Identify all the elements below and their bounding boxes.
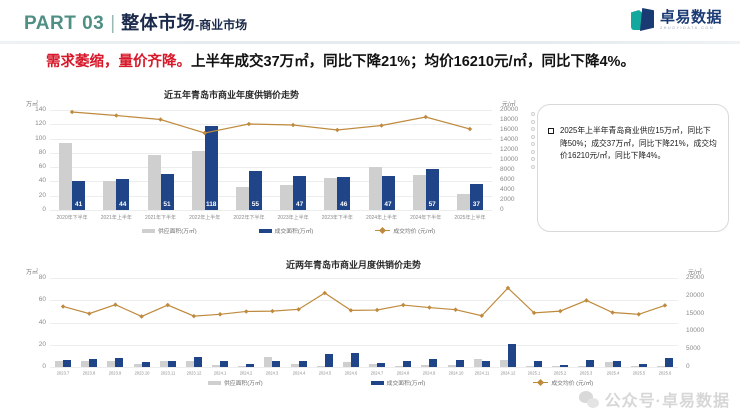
title-separator: | xyxy=(110,13,115,35)
legend-item-supply[interactable]: 供应面积(万㎡) xyxy=(208,378,263,387)
header-divider xyxy=(0,41,740,44)
legend-line-marker xyxy=(533,382,548,384)
logo-name-en: ZHUOYIDATA.COM xyxy=(660,27,722,31)
logo-text: 卓易数据 ZHUOYIDATA.COM xyxy=(660,10,722,31)
legend-label: 成交均价 (元/㎡) xyxy=(393,226,435,235)
legend-item-deal[interactable]: 成交面积(万㎡) xyxy=(371,378,426,387)
y-tick-right: 10000 xyxy=(686,327,716,334)
chart-title: 近五年青岛市商业年度供销价走势 xyxy=(164,88,299,101)
y-tick-left: 20 xyxy=(20,341,46,348)
price-line-series xyxy=(50,110,492,210)
price-line-series xyxy=(50,278,678,367)
page-title: PART 03 | 整体市场 -商业市场 xyxy=(24,9,247,35)
plot-area xyxy=(50,278,678,367)
legend-label: 供应面积(万㎡) xyxy=(158,226,197,235)
callout-dots-decoration xyxy=(531,112,535,169)
legend-color-swatch xyxy=(208,381,221,385)
y-tick-right: 14000 xyxy=(500,136,530,143)
callout-text: 2025年上半年青岛商业供应15万㎡，同比下降50%；成交37万㎡，同比下降21… xyxy=(560,125,718,163)
brand-logo: 卓易数据 ZHUOYIDATA.COM xyxy=(631,8,722,32)
legend-item-supply[interactable]: 供应面积(万㎡) xyxy=(142,226,197,235)
y-tick-left: 60 xyxy=(20,163,46,170)
legend-color-swatch xyxy=(259,229,272,233)
y-tick-right: 0 xyxy=(500,206,530,213)
watermark: 公众号·卓易数据 xyxy=(579,387,730,411)
y-tick-right: 20000 xyxy=(686,292,716,299)
legend-label: 成交面积(万㎡) xyxy=(387,378,426,387)
gridline xyxy=(50,210,492,211)
y-tick-right: 25000 xyxy=(686,274,716,281)
part-label: PART 03 xyxy=(24,13,104,35)
y-tick-right: 0 xyxy=(686,363,716,370)
chart-legend: 供应面积(万㎡)成交面积(万㎡)成交均价 (元/㎡) xyxy=(208,378,593,387)
x-axis-label: 2025年上半年 xyxy=(440,214,500,221)
legend-label: 成交均价 (元/㎡) xyxy=(551,378,593,387)
legend-item-deal[interactable]: 成交面积(万㎡) xyxy=(259,226,314,235)
x-axis-label: 2025.6 xyxy=(640,371,689,376)
y-tick-right: 5000 xyxy=(686,345,716,352)
legend-item-price[interactable]: 成交均价 (元/㎡) xyxy=(375,226,435,235)
y-tick-right: 8000 xyxy=(500,166,530,173)
slide-page: PART 03 | 整体市场 -商业市场 卓易数据 ZHUOYIDATA.COM… xyxy=(0,0,740,417)
headline-emphasis: 需求萎缩，量价齐降。 xyxy=(46,54,191,70)
y-tick-right: 6000 xyxy=(500,176,530,183)
y-tick-left: 80 xyxy=(20,149,46,156)
logo-name-cn: 卓易数据 xyxy=(660,10,722,25)
headline-detail: 上半年成交37万㎡，同比下降21%；均价16210元/㎡，同比下降4%。 xyxy=(191,54,635,70)
y-tick-left: 40 xyxy=(20,177,46,184)
chart-annual-supply-sales: 近五年青岛市商业年度供销价走势万㎡元/㎡02040608010012014002… xyxy=(14,88,534,238)
gridline xyxy=(50,367,678,368)
chart-monthly-supply-sales: 近两年青岛市商业月度供销价走势万㎡元/㎡02040608005000100001… xyxy=(14,258,726,393)
y-tick-right: 2000 xyxy=(500,196,530,203)
y-tick-right: 10000 xyxy=(500,156,530,163)
title-sub: -商业市场 xyxy=(195,16,247,33)
y-tick-left: 20 xyxy=(20,192,46,199)
logo-mark-icon xyxy=(631,8,655,32)
title-main: 整体市场 xyxy=(121,9,195,35)
y-tick-left: 80 xyxy=(20,274,46,281)
watermark-text: 公众号·卓易数据 xyxy=(605,387,730,411)
y-tick-left: 60 xyxy=(20,296,46,303)
wechat-icon xyxy=(579,391,599,408)
y-tick-left: 100 xyxy=(20,135,46,142)
legend-color-swatch xyxy=(371,381,384,385)
y-tick-right: 16000 xyxy=(500,126,530,133)
insight-callout: 2025年上半年青岛商业供应15万㎡，同比下降50%；成交37万㎡，同比下降21… xyxy=(537,104,729,232)
legend-label: 成交面积(万㎡) xyxy=(275,226,314,235)
headline: 需求萎缩，量价齐降。上半年成交37万㎡，同比下降21%；均价16210元/㎡，同… xyxy=(46,50,706,71)
y-tick-right: 12000 xyxy=(500,146,530,153)
plot-area: 414451118554746475737 xyxy=(50,110,492,210)
y-tick-right: 18000 xyxy=(500,116,530,123)
y-tick-right: 20000 xyxy=(500,106,530,113)
y-tick-left: 40 xyxy=(20,319,46,326)
y-tick-left: 140 xyxy=(20,106,46,113)
y-tick-left: 0 xyxy=(20,206,46,213)
bullet-icon xyxy=(548,128,554,134)
legend-line-marker xyxy=(375,230,390,232)
legend-label: 供应面积(万㎡) xyxy=(224,378,263,387)
y-tick-right: 4000 xyxy=(500,186,530,193)
legend-color-swatch xyxy=(142,229,155,233)
y-tick-right: 15000 xyxy=(686,310,716,317)
y-tick-left: 120 xyxy=(20,120,46,127)
y-tick-left: 0 xyxy=(20,363,46,370)
legend-item-price[interactable]: 成交均价 (元/㎡) xyxy=(533,378,593,387)
chart-title: 近两年青岛市商业月度供销价走势 xyxy=(286,258,421,271)
chart-legend: 供应面积(万㎡)成交面积(万㎡)成交均价 (元/㎡) xyxy=(142,226,435,235)
slide-header: PART 03 | 整体市场 -商业市场 卓易数据 ZHUOYIDATA.COM xyxy=(0,0,740,42)
